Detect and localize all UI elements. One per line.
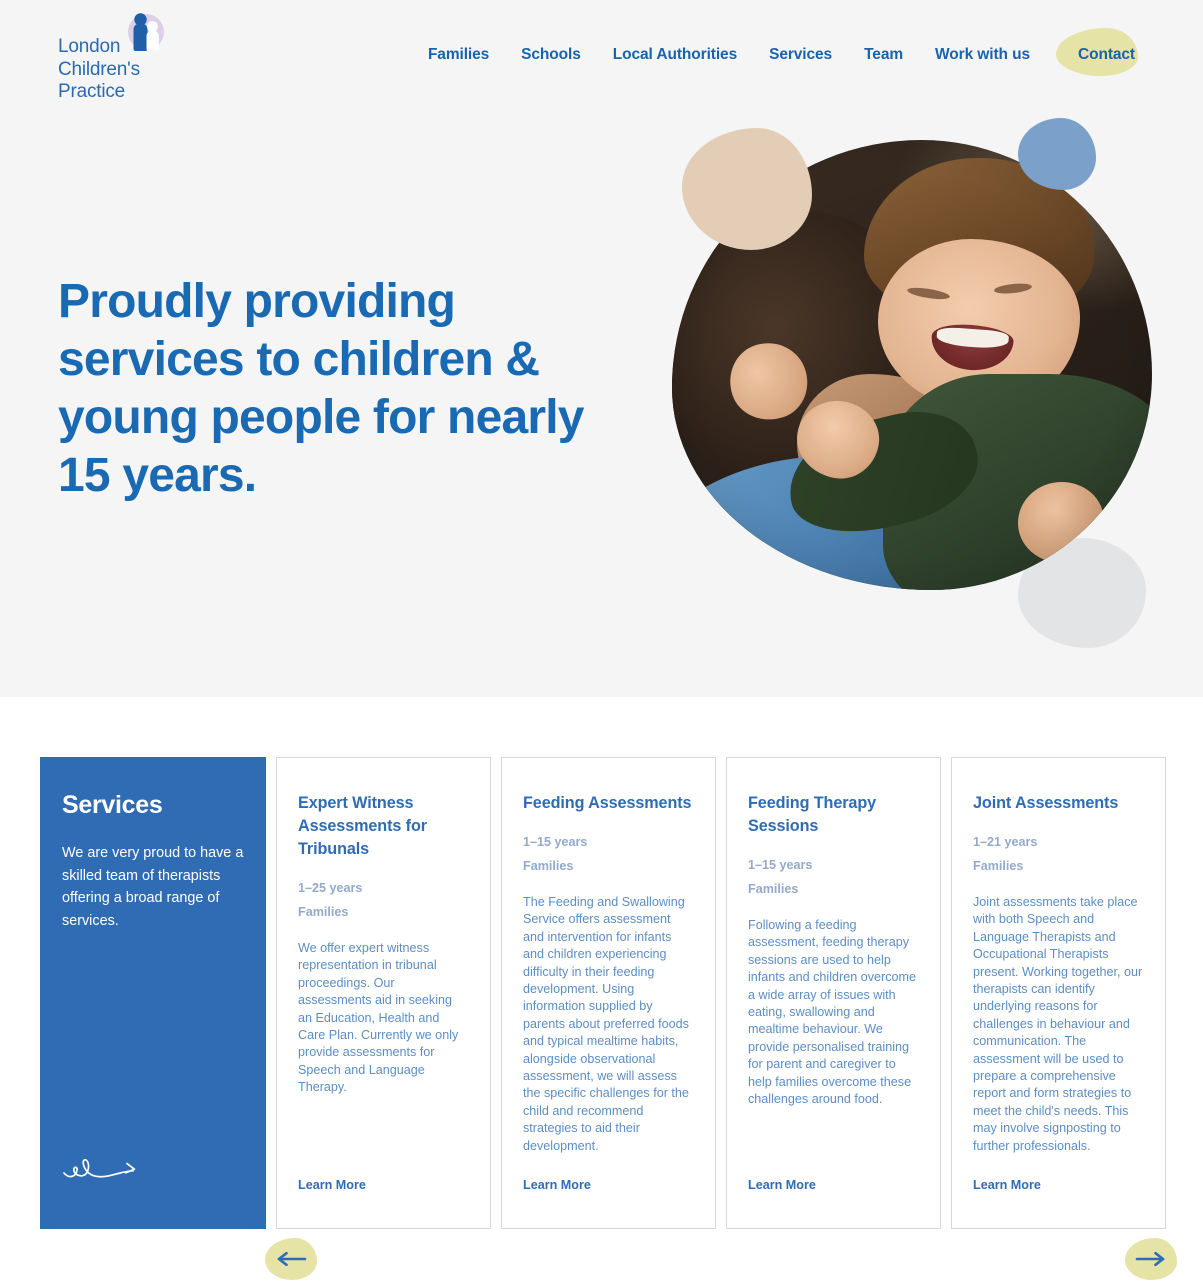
service-card-age: 1–15 years	[748, 854, 919, 878]
service-card[interactable]: Expert Witness Assessments for Tribunals…	[276, 757, 491, 1229]
nav-item-services[interactable]: Services	[753, 40, 848, 70]
service-card-learn-more-link[interactable]: Learn More	[748, 1178, 816, 1192]
main-navigation: Families Schools Local Authorities Servi…	[412, 36, 1157, 74]
services-panel-title: Services	[62, 791, 244, 820]
hero-visual	[660, 110, 1180, 650]
service-card-learn-more-link[interactable]: Learn More	[973, 1178, 1041, 1192]
service-card-audience: Families	[748, 878, 919, 902]
service-card-learn-more-link[interactable]: Learn More	[523, 1178, 591, 1192]
service-card-audience: Families	[973, 855, 1144, 879]
carousel-prev-button[interactable]	[265, 1238, 317, 1280]
nav-item-work-with-us[interactable]: Work with us	[919, 40, 1046, 70]
services-section: Services We are very proud to have a ski…	[0, 697, 1203, 1286]
service-card-age: 1–15 years	[523, 831, 694, 855]
service-card[interactable]: Feeding Therapy Sessions 1–15 years Fami…	[726, 757, 941, 1229]
logo-wordmark: London Children's Practice	[58, 36, 168, 104]
services-carousel: Services We are very proud to have a ski…	[40, 757, 1166, 1229]
site-header: London Children's Practice Families Scho…	[0, 0, 1203, 110]
service-card-body: Joint assessments take place with both S…	[973, 894, 1144, 1155]
service-card-audience: Families	[298, 901, 469, 925]
nav-item-team[interactable]: Team	[848, 40, 919, 70]
service-card-title: Joint Assessments	[973, 792, 1144, 815]
nav-item-families[interactable]: Families	[412, 40, 505, 70]
service-card-age: 1–21 years	[973, 831, 1144, 855]
nav-item-local-authorities[interactable]: Local Authorities	[597, 40, 753, 70]
hero-section: London Children's Practice Families Scho…	[0, 0, 1203, 697]
service-card[interactable]: Feeding Assessments 1–15 years Families …	[501, 757, 716, 1229]
site-logo[interactable]: London Children's Practice	[58, 8, 238, 100]
service-card-body: Following a feeding assessment, feeding …	[748, 917, 919, 1108]
service-card-title: Feeding Assessments	[523, 792, 694, 815]
decorative-beige-blob	[682, 128, 812, 250]
service-card-body: We offer expert witness representation i…	[298, 940, 469, 1097]
service-card-title: Expert Witness Assessments for Tribunals	[298, 792, 469, 861]
service-card[interactable]: Joint Assessments 1–21 years Families Jo…	[951, 757, 1166, 1229]
hero-heading: Proudly providing services to children &…	[58, 273, 618, 505]
services-intro-panel: Services We are very proud to have a ski…	[40, 757, 266, 1229]
service-card-age: 1–25 years	[298, 877, 469, 901]
nav-item-schools[interactable]: Schools	[505, 40, 597, 70]
nav-contact-label: Contact	[1078, 46, 1135, 63]
service-card-audience: Families	[523, 855, 694, 879]
carousel-next-button[interactable]	[1125, 1238, 1177, 1280]
nav-contact-button[interactable]: Contact	[1056, 36, 1157, 74]
service-card-title: Feeding Therapy Sessions	[748, 792, 919, 838]
service-card-body: The Feeding and Swallowing Service offer…	[523, 894, 694, 1155]
services-panel-text: We are very proud to have a skilled team…	[62, 842, 244, 932]
squiggle-arrow-icon	[62, 1151, 144, 1185]
service-card-learn-more-link[interactable]: Learn More	[298, 1178, 366, 1192]
